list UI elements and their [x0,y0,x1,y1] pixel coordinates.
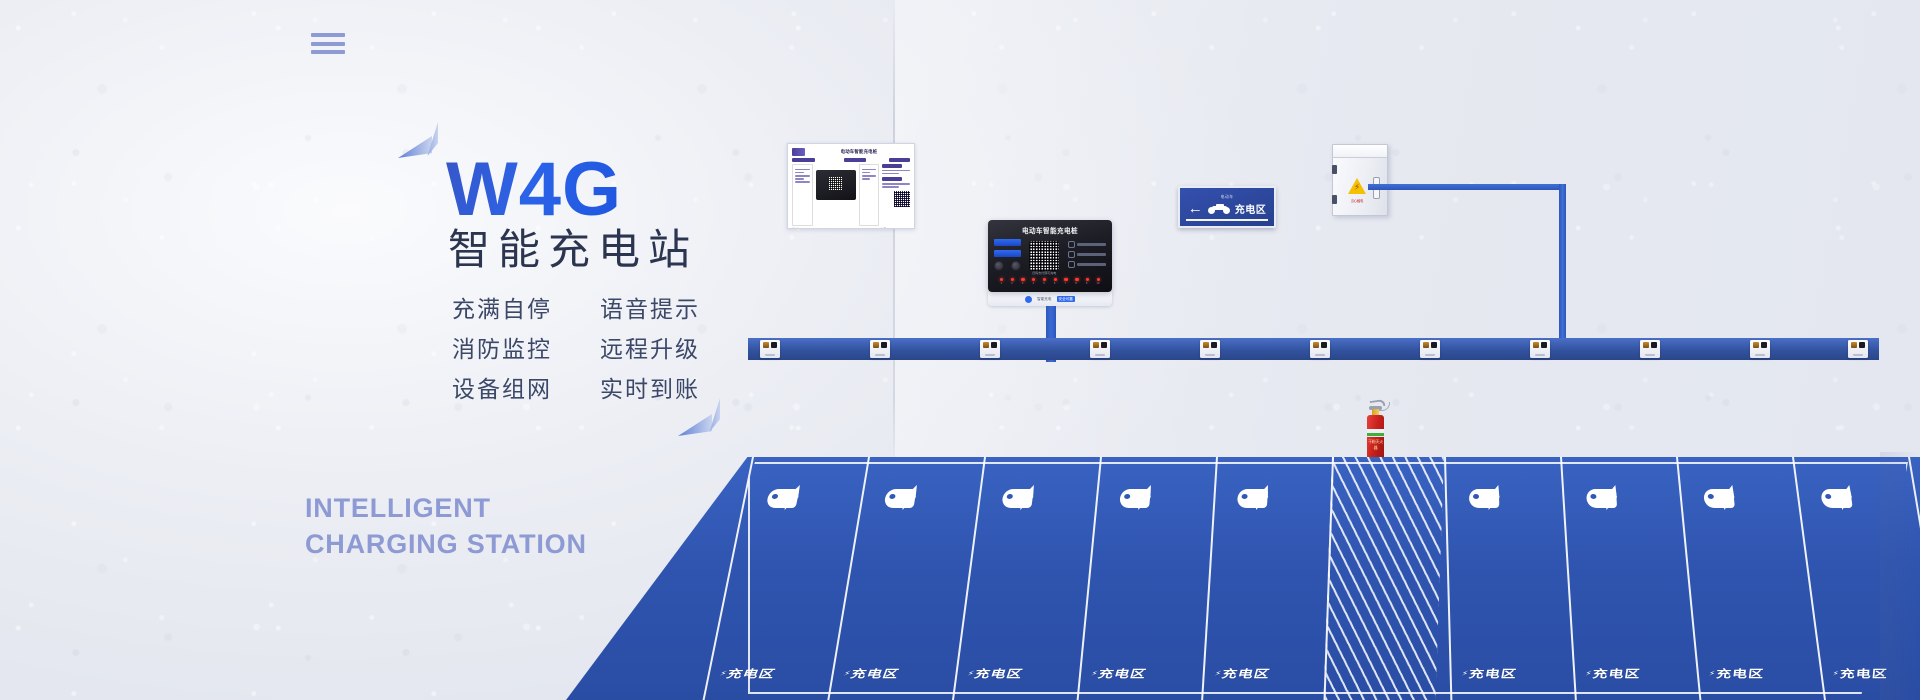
feature-item: 实时到账 [600,374,718,405]
port-number: 9 [1086,282,1087,285]
wall-socket[interactable] [1530,340,1550,358]
feature-item: 充满自停 [452,294,570,325]
hamburger-bar [311,33,345,37]
wall-socket[interactable] [1310,340,1330,358]
charging-pile-displays [994,239,1021,275]
poster-device-illustration [816,164,856,226]
poster-text-line [882,170,910,172]
side-info-row [1068,251,1107,258]
poster-footer-left: 地址：XXX [792,227,807,229]
wall-socket[interactable] [1090,340,1110,358]
direction-sign: 电动车 ← 充电区 [1178,186,1276,228]
wall-socket[interactable] [760,340,780,358]
poster-section-badge [882,177,902,181]
outlet-rail [748,338,1879,360]
feature-list: 充满自停 语音提示 消防监控 远程升级 设备组网 实时到账 [452,294,718,405]
poster-tab-badge [889,158,910,162]
poster-right-column [859,164,879,226]
charging-pile-controls: 扫码支付即可充电 [994,239,1106,275]
extinguisher-label: 干粉灭火器 [1367,439,1384,451]
warning-bolt-icon: ⚡ [1348,183,1366,192]
poster-far-column [882,164,910,226]
card-icon [1068,251,1075,258]
segment-display [994,239,1021,246]
port-led [1011,278,1014,281]
poster-text-line [795,175,810,177]
side-info-row [1068,241,1107,248]
port-led [1075,278,1078,281]
poster-text-line [882,183,910,185]
wall-socket[interactable] [980,340,1000,358]
wall-seam [893,0,895,470]
decorative-triangle [416,122,438,156]
poster-tab-badge [844,158,867,162]
port-led [1000,278,1003,281]
poster-qr-code-icon [894,191,910,207]
wall-socket[interactable] [1750,340,1770,358]
cabinet-hinge [1332,195,1337,204]
banner-root: W4G 智能充电站 充满自停 语音提示 消防监控 远程升级 设备组网 实时到账 … [0,0,1920,700]
port-led [1021,278,1024,281]
poster-text-line [795,181,810,183]
charging-pile-panel: 电动车智能充电桩 扫码支付即可充电 [988,220,1112,292]
sign-top-note: 电动车 [1221,194,1234,200]
brand-logo-icon [1025,296,1032,303]
port-led [1032,278,1035,281]
side-info-text [1077,253,1107,255]
decorative-arrows-top [398,122,438,172]
charging-port-indicators [994,278,1106,281]
poster-text-line [862,175,876,177]
hamburger-bar [311,50,345,54]
side-info-row [1068,261,1107,268]
port-number: 5 [1043,282,1044,285]
feature-item: 远程升级 [600,334,718,365]
poster-text-line [795,172,804,174]
footer-brand-text: 智能充电 [1037,297,1051,302]
parking-area: ⚡充电区 ⚡充电区 ⚡充电区 ⚡充电区 [566,452,1920,700]
port-number: 7 [1065,282,1066,285]
conduit-vertical [1559,184,1566,340]
qr-code-icon[interactable] [1029,241,1059,271]
cabinet-hinge [1332,165,1337,174]
warning-label: 当心触电 [1341,198,1373,203]
wall-poster: 电动车智能充电桩 [787,143,915,229]
cabinet-top-panel [1333,145,1387,158]
charging-pile-side-info [1068,239,1107,275]
left-arrow-icon: ← [1188,201,1203,216]
english-subtitle: INTELLIGENT CHARGING STATION [305,491,587,562]
port-led [1086,278,1089,281]
decorative-triangle [678,414,712,436]
conduit-horizontal [1368,184,1566,190]
decorative-triangle [398,136,432,158]
port-led [1097,278,1100,281]
english-line-1: INTELLIGENT [305,491,587,527]
coin-icon [1068,261,1075,268]
port-number: 6 [1054,282,1055,285]
wall-socket[interactable] [1200,340,1220,358]
port-number: 10 [1097,282,1100,285]
hamburger-bar [311,42,345,46]
poster-text-line [862,169,876,171]
port-led [1054,278,1057,281]
poster-title: 电动车智能充电桩 [808,149,910,155]
port-led [1064,278,1067,281]
electrical-cabinet: ⚡ 当心触电 [1332,144,1388,216]
wall-socket[interactable] [1420,340,1440,358]
poster-body [792,164,910,226]
charging-pile-knobs[interactable] [994,261,1021,271]
poster-device-image [816,170,856,200]
poster-logo-icon [792,148,805,156]
charging-pile[interactable]: 电动车智能充电桩 扫码支付即可充电 [988,220,1112,306]
poster-header: 电动车智能充电桩 [792,147,910,156]
port-number: 4 [1033,282,1034,285]
extinguisher-green-stripe [1367,433,1384,436]
poster-footer: 地址：XXX 电话：400-XXX-XXXX [792,227,910,229]
footer-badge: 安全可靠 [1057,296,1075,302]
port-led [1043,278,1046,281]
charging-pile-title: 电动车智能充电桩 [994,225,1106,235]
charging-port-numbers: 1 2 3 4 5 6 7 8 9 10 [994,282,1106,285]
segment-display [994,250,1021,257]
charging-pile-qr-area: 扫码支付即可充电 [1025,239,1064,275]
side-info-text [1077,243,1107,245]
poster-left-column [792,164,813,226]
poster-tab-badges [792,158,910,162]
poster-tab-badge [792,158,815,162]
port-number: 1 [1001,282,1002,285]
sign-content-row: ← 充电区 [1188,201,1267,216]
poster-text-line [795,169,810,171]
qr-caption: 扫码支付即可充电 [1025,271,1064,275]
port-number: 3 [1022,282,1023,285]
english-line-2: CHARGING STATION [305,527,587,563]
decorative-arrows-bottom [678,398,720,450]
scan-icon [1068,241,1075,248]
wall-floor-shadow [1880,452,1920,700]
poster-footer-right: 电话：400-XXX-XXXX [880,227,910,229]
charging-pile-footer: 智能充电 安全可靠 [988,292,1112,306]
page-subtitle: 智能充电站 [448,216,698,277]
poster-text-line [882,173,899,175]
port-number: 2 [1011,282,1012,285]
poster-text-line [862,172,870,174]
hamburger-menu-icon[interactable] [311,33,345,54]
wall-socket[interactable] [1848,340,1868,358]
poster-text-line [882,186,899,188]
sign-label: 充电区 [1235,201,1267,216]
side-info-text [1077,263,1107,265]
wall-socket[interactable] [1640,340,1660,358]
feature-item: 消防监控 [452,334,570,365]
sign-underline [1186,219,1268,221]
poster-section-badge [882,164,902,168]
confirm-knob[interactable] [1011,261,1021,271]
parking-floor-outline [748,462,1908,694]
wall-socket[interactable] [870,340,890,358]
scooter-icon [1208,203,1230,214]
poster-text-line [862,178,870,180]
feature-item: 设备组网 [452,374,570,405]
feature-item: 语音提示 [600,294,718,325]
poster-text-line [795,178,804,180]
port-number: 8 [1075,282,1076,285]
selector-knob[interactable] [994,261,1004,271]
